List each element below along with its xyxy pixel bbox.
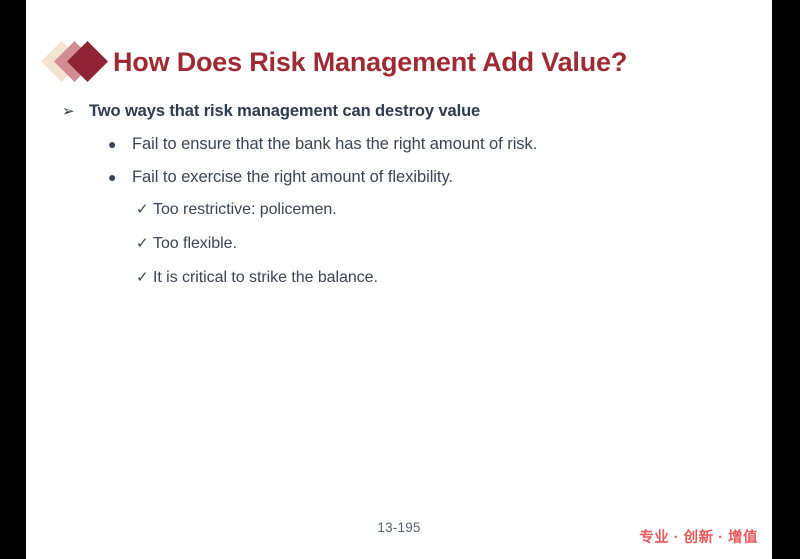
bullet-line: ➢ Two ways that risk management can dest… [26, 102, 772, 135]
bullet-line: ● Fail to exercise the right amount of f… [26, 168, 772, 201]
bullet-text: Too flexible. [153, 235, 237, 253]
check-bullet-icon: ✓ [136, 236, 153, 251]
bullet-line: ✓ Too flexible. [26, 235, 772, 269]
bullet-text: Fail to exercise the right amount of fle… [132, 168, 453, 187]
bullet-line: ● Fail to ensure that the bank has the r… [26, 135, 772, 168]
letterbox-right [772, 0, 800, 559]
letterbox-left [0, 0, 26, 559]
bullet-text: Too restrictive: policemen. [153, 201, 337, 219]
slide-canvas: How Does Risk Management Add Value? ➢ Tw… [26, 0, 772, 559]
bullet-text: Two ways that risk management can destro… [89, 102, 480, 121]
slide-frame: How Does Risk Management Add Value? ➢ Tw… [0, 0, 800, 559]
slide-title-block: How Does Risk Management Add Value? [26, 36, 627, 88]
disc-bullet-icon: ● [108, 137, 132, 151]
bullet-text: Fail to ensure that the bank has the rig… [132, 135, 537, 154]
page-title: How Does Risk Management Add Value? [113, 49, 627, 76]
bullet-text: It is critical to strike the balance. [153, 269, 378, 287]
bullet-line: ✓ It is critical to strike the balance. [26, 269, 772, 303]
check-bullet-icon: ✓ [136, 270, 153, 285]
brand-logo: 专业 · 创新 · 增值 [639, 526, 758, 547]
bullet-line: ✓ Too restrictive: policemen. [26, 201, 772, 235]
diamond-cluster-icon [47, 38, 109, 86]
disc-bullet-icon: ● [108, 170, 132, 184]
arrow-bullet-icon: ➢ [62, 104, 89, 119]
slide-body: ➢ Two ways that risk management can dest… [26, 102, 772, 303]
check-bullet-icon: ✓ [136, 202, 153, 217]
